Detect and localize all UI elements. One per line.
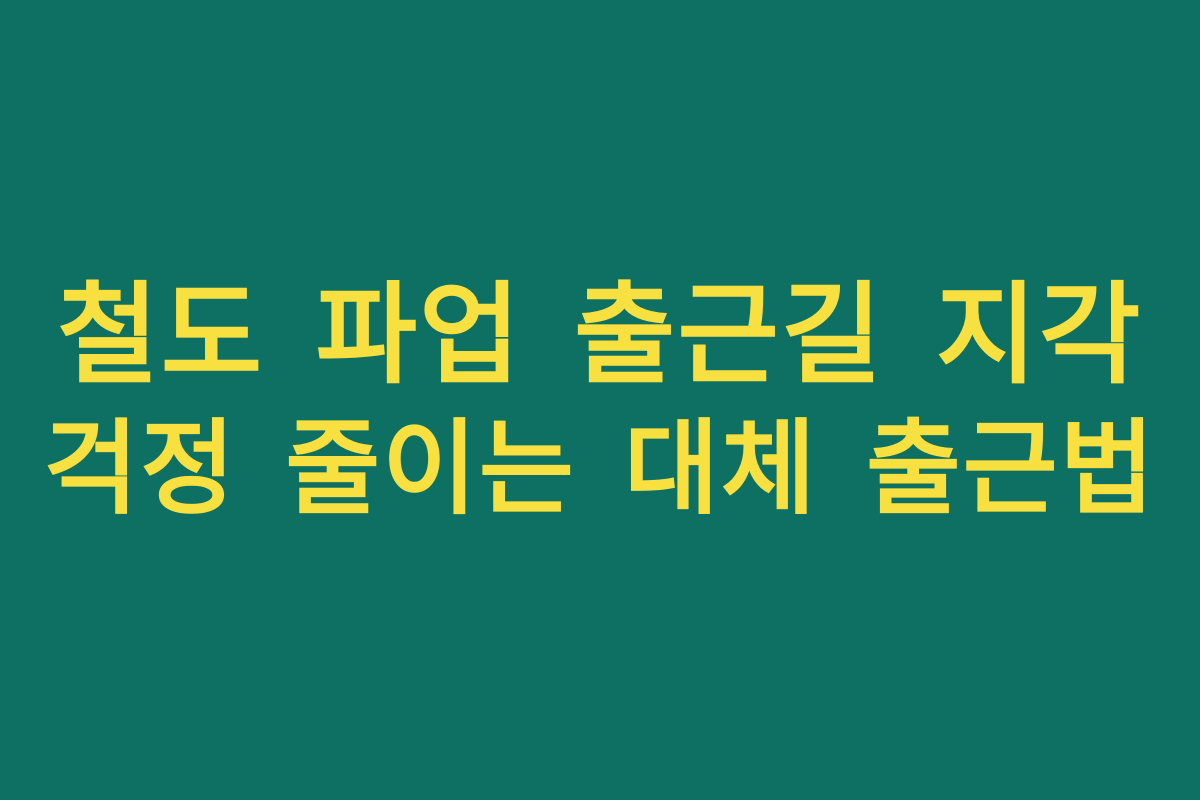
headline-line-2: 걱정 줄이는 대체 출근법 — [40, 405, 1160, 535]
headline-card: 철도 파업 출근길 지각 걱정 줄이는 대체 출근법 — [0, 0, 1200, 800]
headline-line-1: 철도 파업 출근길 지각 — [40, 265, 1160, 405]
headline-text-block: 철도 파업 출근길 지각 걱정 줄이는 대체 출근법 — [0, 265, 1200, 535]
